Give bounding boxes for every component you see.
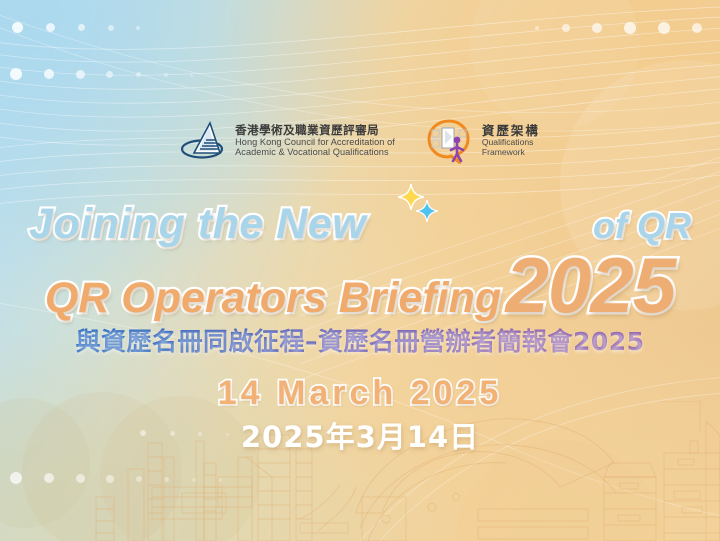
headline-year: 2025 [506, 241, 676, 329]
hkcaavq-logo: 香港學術及職業資歷評審局 Hong Kong Council for Accre… [180, 119, 395, 163]
qf-logo-text: 資歷架構 Qualifications Framework [482, 124, 540, 158]
headline-line-2: QR Operators Briefing 2025 [0, 240, 720, 302]
hkcaavq-en-line1: Hong Kong Council for Accreditation of [235, 137, 395, 147]
headline: Joining the New Journey Journey of QR QR… [0, 186, 720, 302]
hkcaavq-logo-text: 香港學術及職業資歷評審局 Hong Kong Council for Accre… [235, 124, 395, 157]
qf-en-line2: Framework [482, 148, 540, 158]
headline-qr-operators-briefing: QR Operators Briefing [45, 274, 501, 322]
qf-logo: 資歷架構 Qualifications Framework [423, 118, 540, 164]
hkcaavq-zh-name: 香港學術及職業資歷評審局 [235, 124, 395, 137]
event-banner: 香港學術及職業資歷評審局 Hong Kong Council for Accre… [0, 0, 720, 541]
hkcaavq-sail-logo-icon [180, 119, 228, 163]
logo-row: 香港學術及職業資歷評審局 Hong Kong Council for Accre… [0, 118, 720, 164]
event-date-english: 14 March 2025 [0, 374, 720, 413]
headline-line-1: Joining the New Journey Journey of QR [0, 186, 720, 244]
chinese-subtitle: 與資歷名冊同啟征程–資歷名冊營辦者簡報會2025 [0, 322, 720, 358]
qf-person-logo-icon [423, 118, 475, 164]
decor-circle-midright [470, 0, 640, 130]
hkcaavq-en-line2: Academic & Vocational Qualifications [235, 147, 395, 157]
event-date-chinese: 2025年3月14日 [0, 414, 720, 456]
qf-zh-name: 資歷架構 [482, 124, 540, 138]
